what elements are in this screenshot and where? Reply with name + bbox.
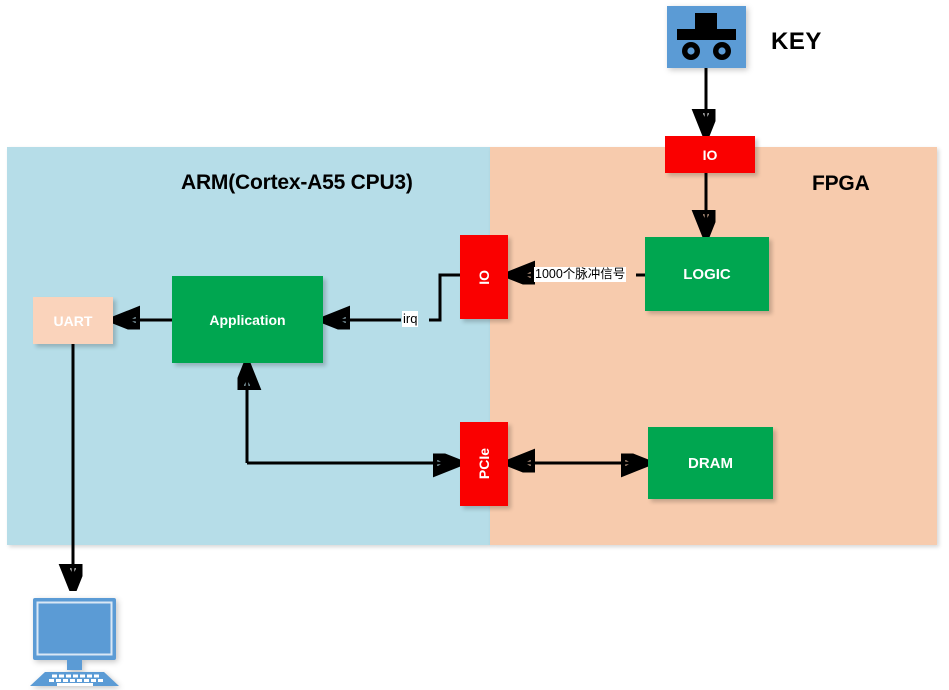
- block-uart[interactable]: UART: [33, 297, 113, 344]
- block-dram-label: DRAM: [688, 455, 733, 472]
- block-io-left-label: IO: [477, 270, 491, 285]
- block-application[interactable]: Application: [172, 276, 323, 363]
- block-pcie[interactable]: PCIe: [460, 422, 508, 506]
- edge-label-pulse: 1000个脉冲信号: [534, 267, 626, 282]
- block-logic[interactable]: LOGIC: [645, 237, 769, 311]
- block-dram[interactable]: DRAM: [648, 427, 773, 499]
- block-io-left[interactable]: IO: [460, 235, 508, 319]
- block-io-top-label: IO: [703, 147, 718, 163]
- edge-label-irq: irq: [402, 311, 418, 327]
- block-uart-label: UART: [54, 313, 93, 329]
- block-pcie-label: PCIe: [477, 448, 491, 479]
- block-logic-label: LOGIC: [683, 266, 731, 283]
- block-io-top[interactable]: IO: [665, 136, 755, 173]
- region-fpga-label: FPGA: [812, 172, 870, 196]
- key-label: KEY: [771, 28, 822, 56]
- diagram-canvas: ARM(Cortex-A55 CPU3) FPGA: [0, 0, 949, 690]
- computer-icon: [23, 598, 126, 686]
- block-application-label: Application: [209, 312, 285, 328]
- key-icon: [667, 6, 746, 68]
- region-arm-label: ARM(Cortex-A55 CPU3): [181, 171, 413, 195]
